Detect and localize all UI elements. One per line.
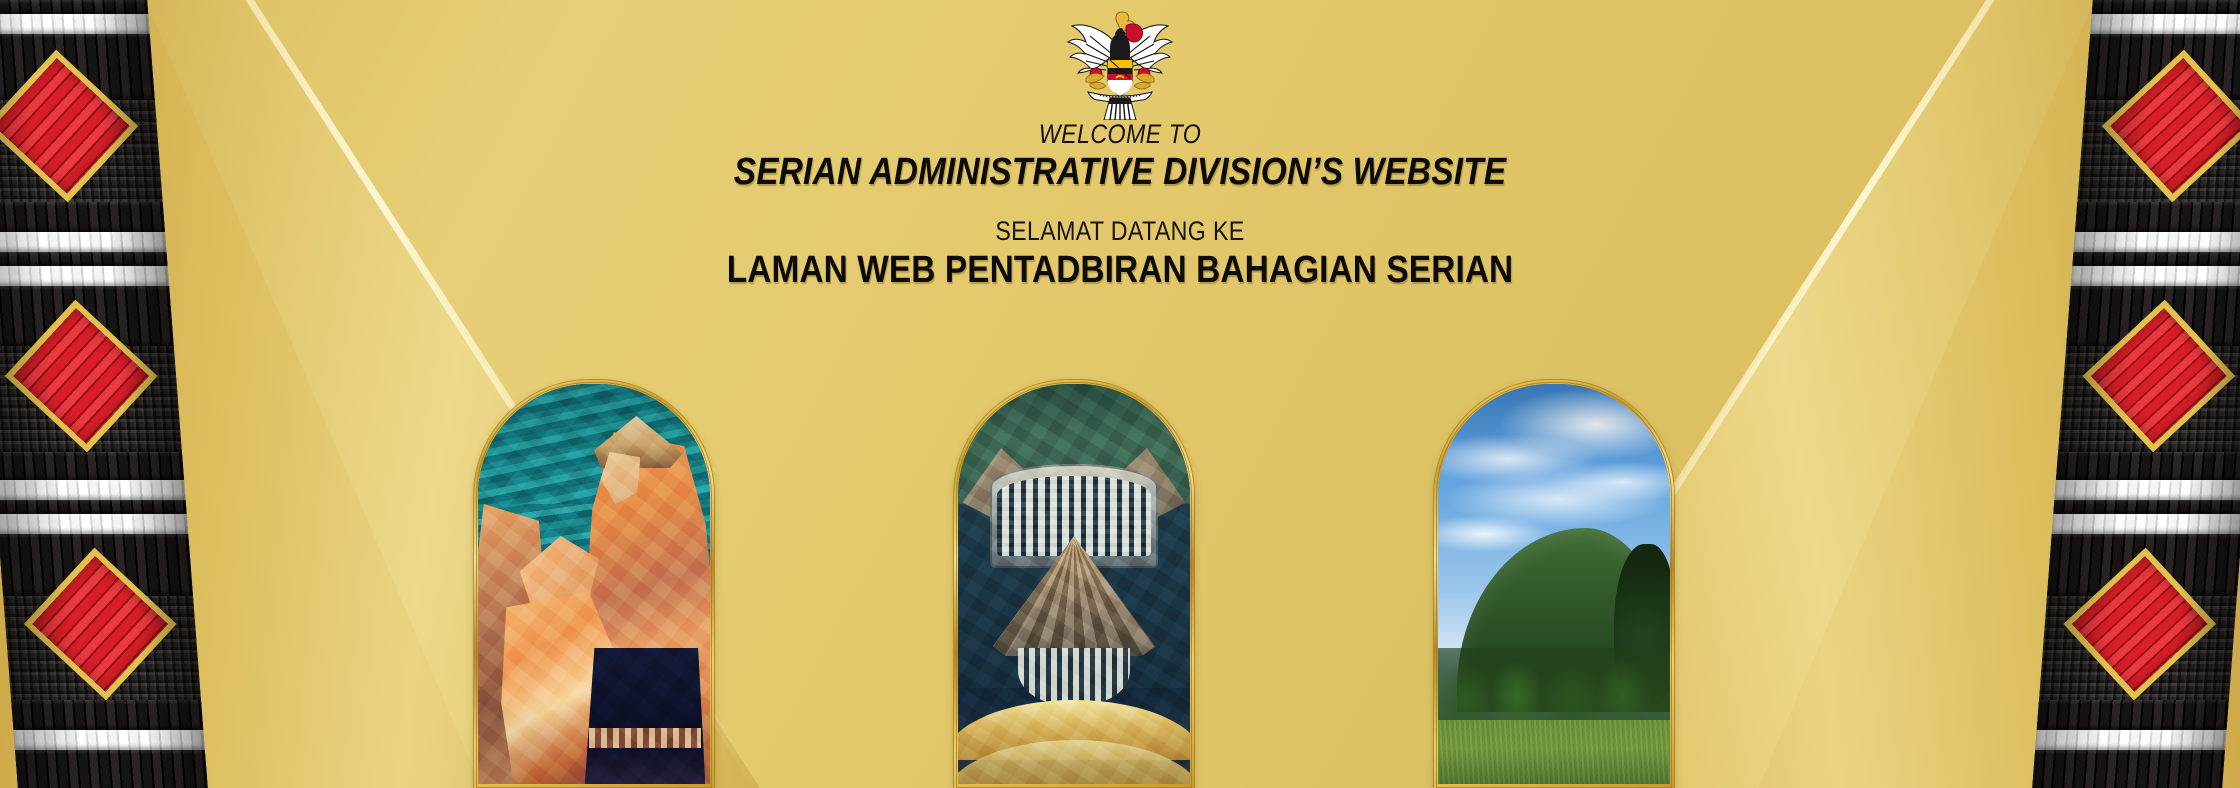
- arch-1-inner: [478, 384, 710, 784]
- sarawak-coat-of-arms-icon: [1060, 8, 1180, 120]
- arch-image-traditional-dancers[interactable]: [474, 380, 714, 788]
- welcome-text-block: WELCOME TO SERIAN ADMINISTRATIVE DIVISIO…: [0, 120, 2240, 295]
- artwork-administrative-building: [958, 384, 1190, 784]
- arch-2-inner: [958, 384, 1190, 784]
- arch-image-forested-hill[interactable]: [1434, 380, 1674, 788]
- welcome-english-subtitle: WELCOME TO: [157, 120, 2083, 148]
- welcome-banner: WELCOME TO SERIAN ADMINISTRATIVE DIVISIO…: [0, 0, 2240, 788]
- photo-forested-hill: [1438, 384, 1670, 784]
- artwork-traditional-dancers: [478, 384, 710, 784]
- page-title-english: SERIAN ADMINISTRATIVE DIVISION’S WEBSITE: [134, 148, 2105, 197]
- arch-image-administrative-building[interactable]: [954, 380, 1194, 788]
- page-title-malay: LAMAN WEB PENTADBIRAN BAHAGIAN SERIAN: [134, 246, 2105, 295]
- arch-3-inner: [1438, 384, 1670, 784]
- heading-spacer: [0, 197, 2240, 217]
- welcome-malay-subtitle: SELAMAT DATANG KE: [157, 217, 2083, 246]
